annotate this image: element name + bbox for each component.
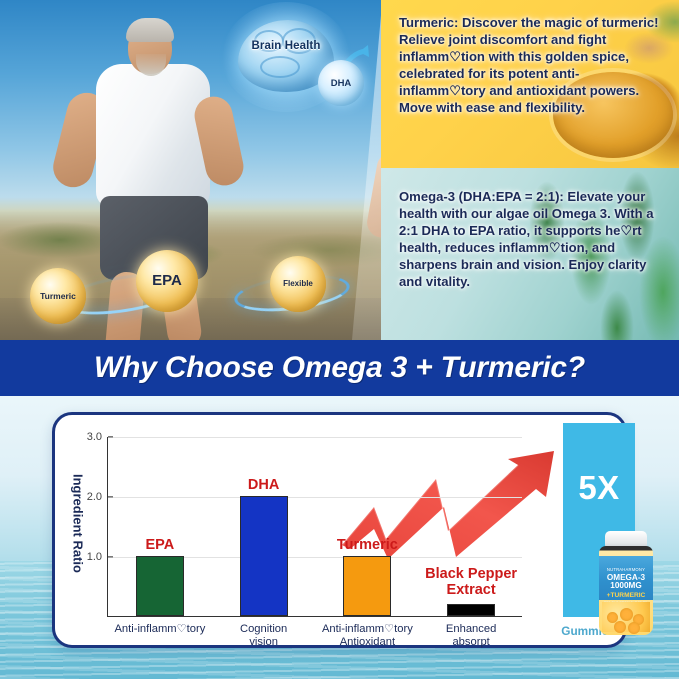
bottle-body: NUTRAHARMONY OMEGA-3 1000MG +TURMERIC EP… — [599, 546, 653, 635]
highlight-bar-multiplier: 5X — [563, 469, 635, 507]
infographic-page: Brain Health DHA Turmeric EPA Flexible T… — [0, 0, 679, 679]
chart-bar — [343, 556, 391, 616]
bottle-product: OMEGA-3 1000MG — [599, 574, 653, 590]
badge-turmeric: Turmeric — [30, 268, 86, 324]
brain-fold-3 — [260, 56, 300, 78]
headline-text: Why Choose Omega 3 + Turmeric? — [94, 351, 585, 385]
bar-value-label: EPA — [146, 537, 175, 553]
hero-photo: Brain Health DHA Turmeric EPA Flexible T… — [0, 0, 679, 340]
bottle-gummy-art — [602, 602, 650, 632]
man-hair — [126, 18, 174, 42]
x-axis-tick: Enhancedabsorpt — [446, 623, 496, 649]
chart-section: Ingredient Ratio 1.02.03.0EPAAnti-inflam… — [0, 396, 679, 679]
panel-turmeric-text: Turmeric: Discover the magic of turmeric… — [381, 0, 679, 116]
y-axis-tick: 2.0 — [87, 491, 108, 503]
panel-turmeric: Turmeric: Discover the magic of turmeric… — [381, 0, 679, 168]
product-bottle: NUTRAHARMONY OMEGA-3 1000MG +TURMERIC EP… — [595, 531, 657, 635]
bar-value-label: Black PepperExtract — [425, 566, 517, 598]
y-axis-label: Ingredient Ratio — [67, 433, 89, 613]
x-axis-tick: Anti-inflamm♡toryAntioxidant — [322, 623, 413, 649]
x-axis-tick: Cognitionvision — [240, 623, 287, 649]
headline-banner: Why Choose Omega 3 + Turmeric? — [0, 340, 679, 396]
x-axis-tick: Anti-inflamm♡tory — [114, 623, 205, 636]
bottle-brand: NUTRAHARMONY — [599, 567, 653, 572]
gridline — [108, 497, 522, 498]
man-shirt — [96, 64, 210, 208]
bar-value-label: Turmeric — [337, 537, 398, 553]
panel-omega-text: Omega-3 (DHA:EPA = 2:1): Elevate your he… — [381, 168, 679, 290]
bottle-dose: 1000MG — [610, 581, 641, 590]
gridline — [108, 437, 522, 438]
brain-health-label: Brain Health — [234, 40, 338, 52]
y-axis-tick: 1.0 — [87, 551, 108, 563]
chart-plot-area: 1.02.03.0EPAAnti-inflamm♡toryDHACognitio… — [107, 437, 522, 617]
chart-bar — [240, 496, 288, 616]
panel-omega: Omega-3 (DHA:EPA = 2:1): Elevate your he… — [381, 168, 679, 340]
chart-card: Ingredient Ratio 1.02.03.0EPAAnti-inflam… — [52, 412, 627, 648]
y-axis-tick: 3.0 — [87, 431, 108, 443]
badge-epa: EPA — [136, 250, 198, 312]
bottle-plus-turmeric: +TURMERIC — [601, 592, 651, 599]
chart-bar — [447, 604, 495, 616]
chart-bar — [136, 556, 184, 616]
badge-flexible: Flexible — [270, 256, 326, 312]
bar-value-label: DHA — [248, 477, 279, 493]
bottle-label-top: NUTRAHARMONY OMEGA-3 1000MG +TURMERIC EP… — [599, 556, 653, 600]
dha-bubble: DHA — [318, 60, 364, 106]
